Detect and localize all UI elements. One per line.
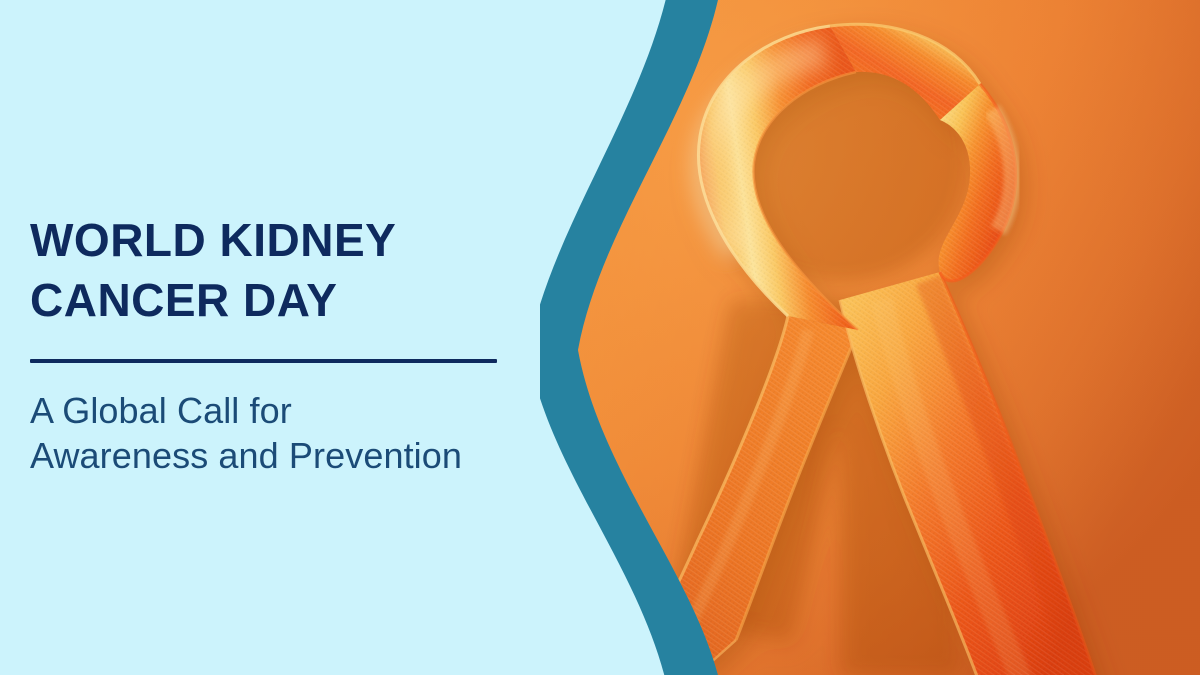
page-title: WORLD KIDNEY CANCER DAY [30,210,550,330]
world-kidney-cancer-day-banner: WORLD KIDNEY CANCER DAY A Global Call fo… [0,0,1200,675]
page-subtitle: A Global Call for Awareness and Preventi… [30,388,550,478]
headline-block: WORLD KIDNEY CANCER DAY A Global Call fo… [30,210,550,478]
title-divider [30,359,497,363]
ribbon-artwork-panel [540,0,1200,675]
